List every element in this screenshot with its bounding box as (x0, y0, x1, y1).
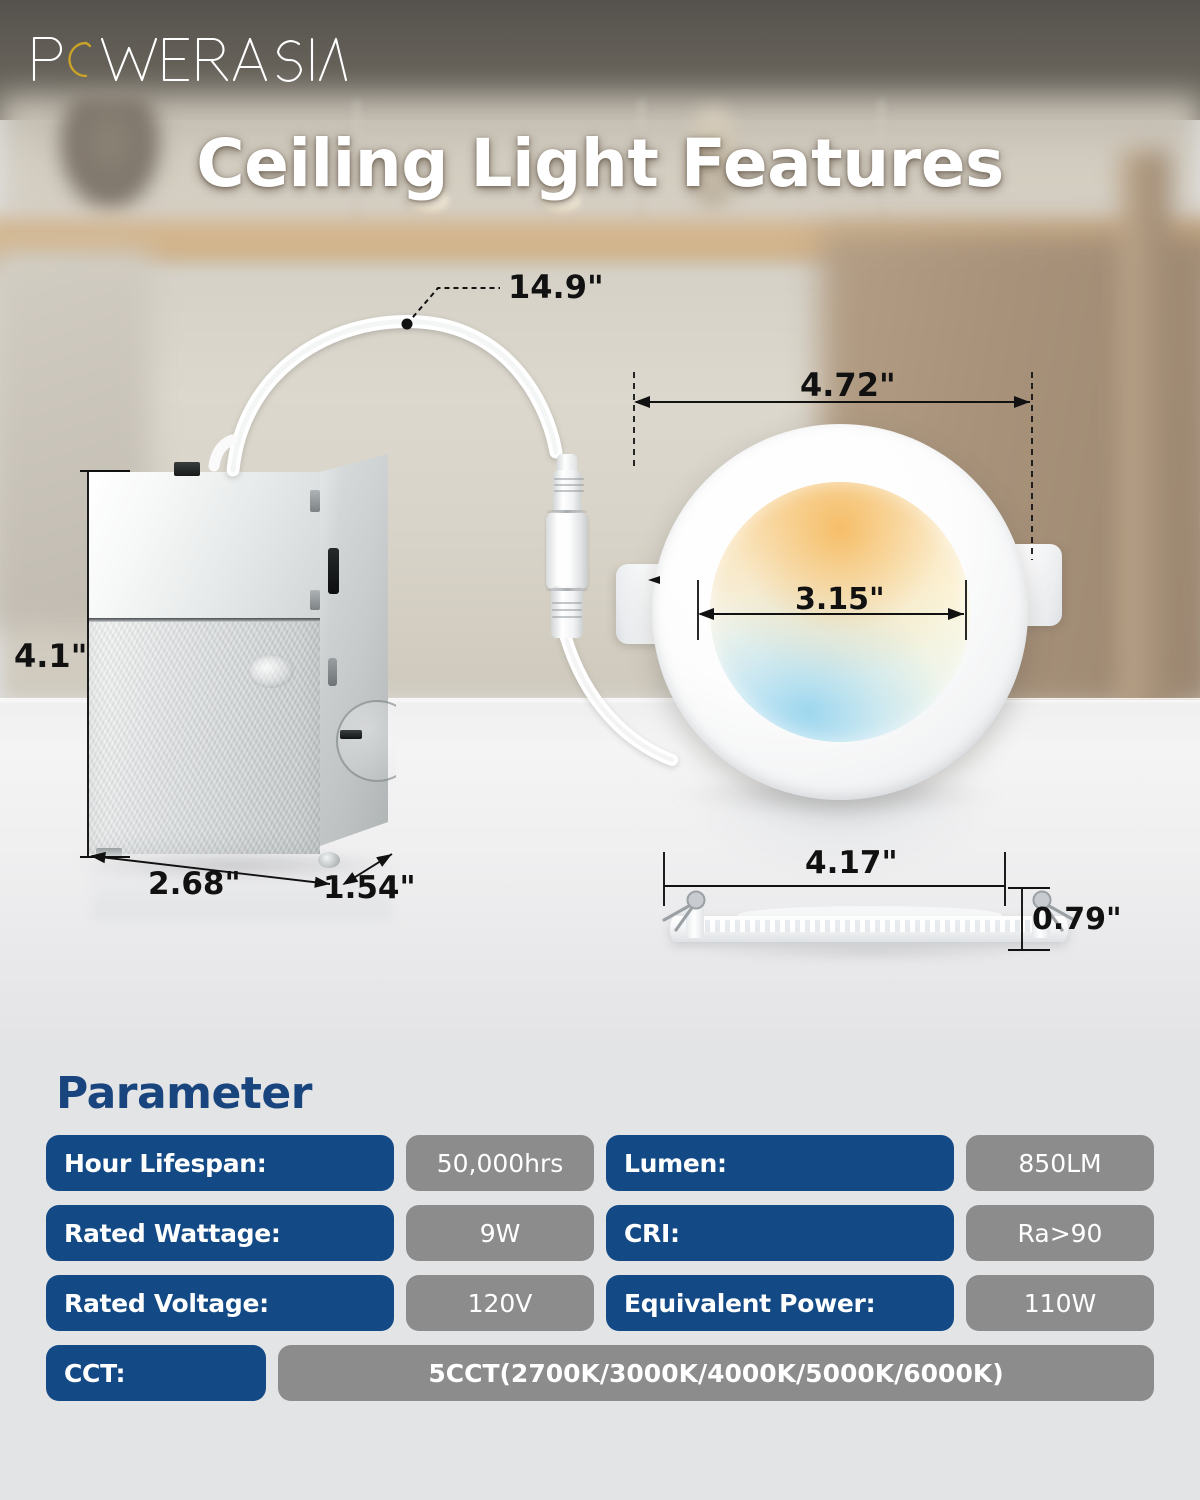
junction-box-foot (96, 848, 122, 858)
junction-box (88, 462, 388, 862)
parameter-label-cct: CCT: (46, 1345, 266, 1401)
downlight-side-view (660, 880, 1080, 970)
connector-grip-rib (554, 484, 584, 486)
junction-box-embossed-mark (248, 654, 294, 688)
hero-photo-area: Ceiling Light Features (0, 0, 1200, 1040)
page-title: Ceiling Light Features (0, 125, 1200, 202)
connector-grip-rib (552, 616, 582, 618)
junction-box-tab (310, 490, 320, 512)
connector-grip-rib (552, 609, 582, 611)
parameter-value-rated-voltage: 120V (406, 1275, 594, 1331)
junction-box-seam (88, 618, 320, 622)
parameter-label-hour-lifespan: Hour Lifespan: (46, 1135, 394, 1191)
quick-connector (538, 452, 596, 652)
parameter-label-equivalent-power: Equivalent Power: (606, 1275, 954, 1331)
junction-box-knockout-tab (340, 730, 362, 739)
junction-box-upper-panel (88, 472, 320, 620)
parameter-label-cri: CRI: (606, 1205, 954, 1261)
parameter-cell: CRI: Ra>90 (606, 1205, 1154, 1261)
connector-ring (546, 510, 588, 513)
parameter-cell: Lumen: 850LM (606, 1135, 1154, 1191)
dimension-label-box-depth: 1.54" (323, 870, 416, 906)
dimension-label-fixture-thickness: 0.79" (1032, 902, 1122, 937)
connector-grip-rib (554, 490, 584, 492)
parameter-value-cct: 5CCT(2700K/3000K/4000K/5000K/6000K) (278, 1345, 1154, 1401)
side-view-springs (660, 880, 1080, 970)
parameter-cell: Rated Voltage: 120V (46, 1275, 594, 1331)
dimension-label-cutout-width: 4.17" (805, 845, 898, 881)
parameter-cell: Equivalent Power: 110W (606, 1275, 1154, 1331)
parameter-value-rated-wattage: 9W (406, 1205, 594, 1261)
parameter-value-hour-lifespan: 50,000hrs (406, 1135, 594, 1191)
table-row: CCT: 5CCT(2700K/3000K/4000K/5000K/6000K) (46, 1345, 1154, 1401)
dimension-label-lens-diameter: 3.15" (795, 582, 885, 617)
parameter-value-equivalent-power: 110W (966, 1275, 1154, 1331)
parameter-label-rated-voltage: Rated Voltage: (46, 1275, 394, 1331)
junction-box-vent-slot (328, 658, 337, 686)
infographic-page: Ceiling Light Features (0, 0, 1200, 1500)
junction-box-vent-slot (328, 548, 339, 594)
parameter-value-lumen: 850LM (966, 1135, 1154, 1191)
junction-box-cable-clip (174, 462, 200, 476)
junction-box-foot (318, 852, 340, 868)
table-row: Rated Wattage: 9W CRI: Ra>90 (46, 1205, 1154, 1261)
background-right-post (1120, 150, 1170, 710)
dimension-label-box-height: 4.1" (14, 637, 87, 675)
dimension-label-trim-outer-diameter: 4.72" (800, 366, 896, 404)
parameter-value-cri: Ra>90 (966, 1205, 1154, 1261)
dimension-label-box-width: 2.68" (148, 866, 241, 902)
parameter-label-lumen: Lumen: (606, 1135, 954, 1191)
connector-grip-rib (554, 478, 584, 480)
connector-ring (546, 588, 588, 591)
table-row: Rated Voltage: 120V Equivalent Power: 11… (46, 1275, 1154, 1331)
parameter-cell: Hour Lifespan: 50,000hrs (46, 1135, 594, 1191)
table-row: Hour Lifespan: 50,000hrs Lumen: 850LM (46, 1135, 1154, 1191)
parameter-label-rated-wattage: Rated Wattage: (46, 1205, 394, 1261)
parameter-cell: Rated Wattage: 9W (46, 1205, 594, 1261)
junction-box-tab (310, 590, 320, 610)
parameter-section-title: Parameter (56, 1068, 312, 1119)
dimension-label-cable-length: 14.9" (508, 268, 604, 306)
parameter-table: Hour Lifespan: 50,000hrs Lumen: 850LM Ra… (46, 1135, 1154, 1415)
brand-logo (28, 30, 348, 86)
junction-box-side-face (320, 454, 388, 846)
connector-grip-rib (552, 602, 582, 604)
connector-lower-neck (551, 586, 583, 638)
connector-body (546, 512, 588, 590)
